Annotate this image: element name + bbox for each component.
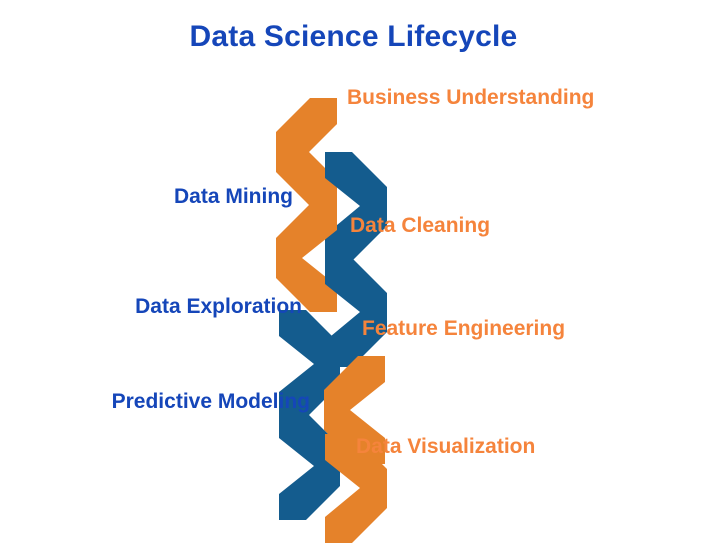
stage-label-data-mining: Data Mining xyxy=(174,186,293,207)
stage-label-business-understanding: Business Understanding xyxy=(347,87,594,108)
lifecycle-chevron-graphic xyxy=(0,0,707,550)
stage-label-data-visualization: Data Visualization xyxy=(356,436,535,457)
stage-label-feature-engineering: Feature Engineering xyxy=(362,318,565,339)
diagram-canvas: Data Science Lifecycle Business Understa… xyxy=(0,0,707,550)
stage-label-data-cleaning: Data Cleaning xyxy=(350,215,490,236)
stage-label-predictive-modeling: Predictive Modeling xyxy=(112,391,310,412)
stage-label-data-exploration: Data Exploration xyxy=(135,296,302,317)
